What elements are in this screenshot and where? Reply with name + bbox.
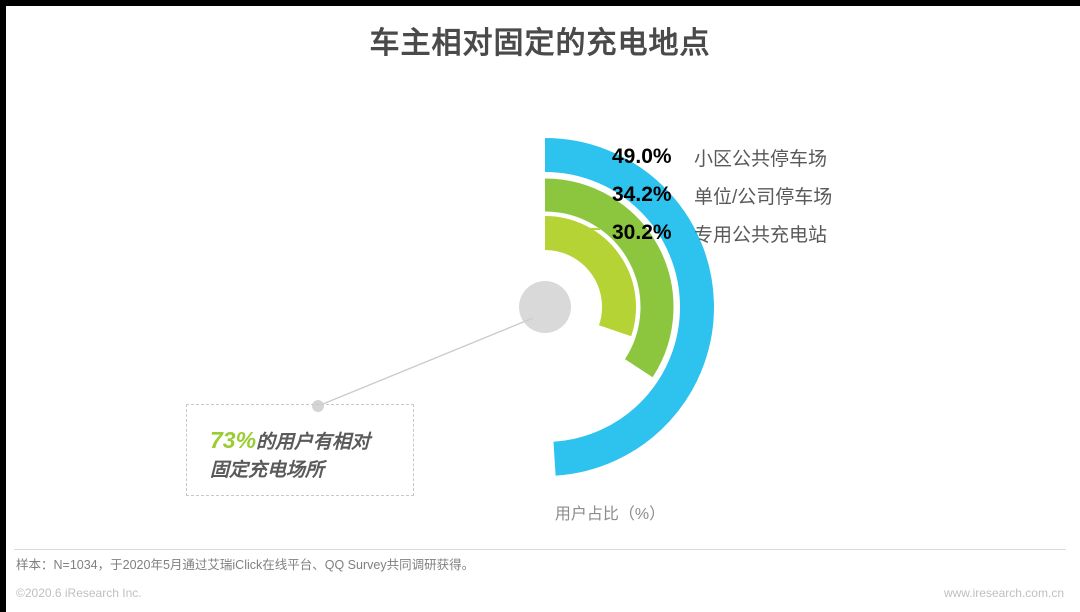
legend-item-danwei[interactable]: 34.2% 单位/公司停车场 <box>612 176 992 214</box>
source-divider <box>14 549 1066 550</box>
legend-label-2: 单位/公司停车场 <box>694 182 832 209</box>
footer-website: www.iresearch.com.cn <box>944 586 1064 600</box>
footer-copyright: ©2020.6 iResearch Inc. <box>16 586 142 600</box>
legend-value-2: 34.2% <box>612 183 694 207</box>
axis-caption: 用户占比（%） <box>470 500 750 524</box>
legend-label-1: 小区公共停车场 <box>694 144 827 171</box>
legend-item-xiaoqu[interactable]: 49.0% 小区公共停车场 <box>612 138 992 176</box>
page-footer: ©2020.6 iResearch Inc. www.iresearch.com… <box>0 586 1080 612</box>
center-hub-circle <box>519 281 571 333</box>
source-note: 样本：N=1034，于2020年5月通过艾瑞iClick在线平台、QQ Surv… <box>16 554 474 573</box>
legend-value-1: 49.0% <box>612 145 694 169</box>
legend-label-3: 专用公共充电站 <box>694 220 827 247</box>
chart-legend: 49.0% 小区公共停车场 34.2% 单位/公司停车场 30.2% 专用公共充… <box>612 138 992 252</box>
callout-leader-line <box>318 318 533 406</box>
legend-item-zhuanyong[interactable]: 30.2% 专用公共充电站 <box>612 214 992 252</box>
legend-value-3: 30.2% <box>612 221 694 245</box>
callout-percent: 73% <box>210 427 256 453</box>
callout-line2: 固定充电场所 <box>210 460 324 481</box>
callout-line1-rest: 的用户有相对 <box>256 432 370 453</box>
callout-text: 73%的用户有相对 固定充电场所 <box>210 424 440 485</box>
